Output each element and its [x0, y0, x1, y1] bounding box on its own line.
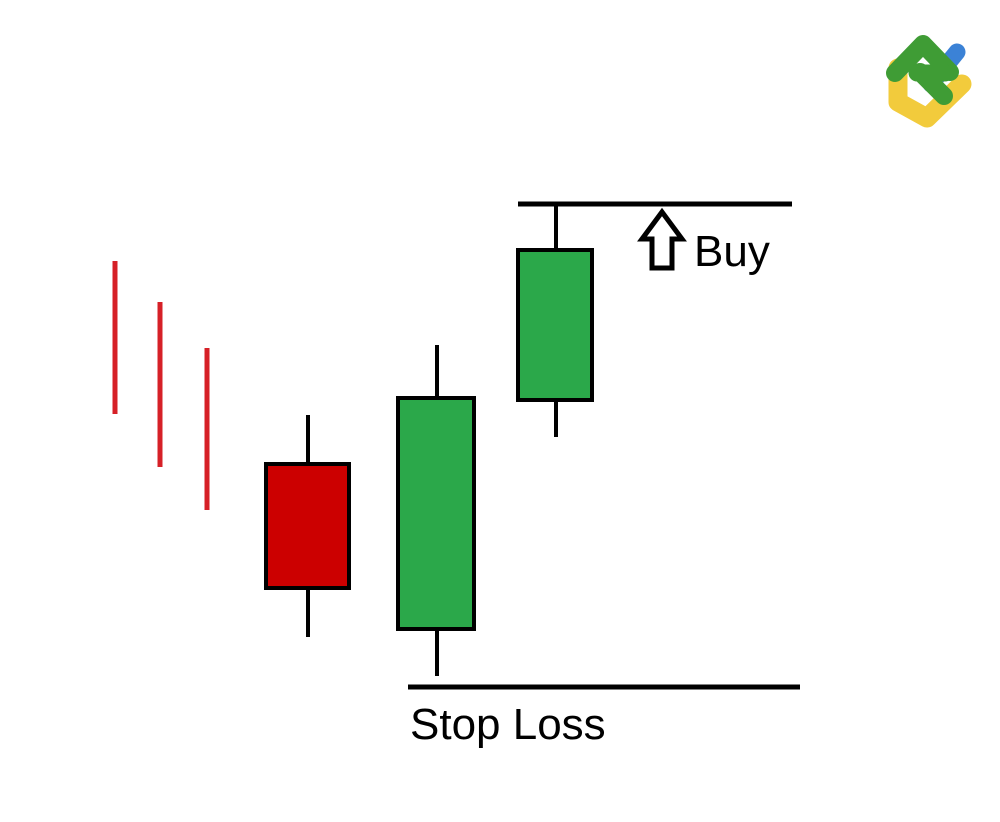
- buy-label: Buy: [694, 227, 770, 276]
- stop-loss-label: Stop Loss: [410, 700, 606, 749]
- litefinance-logo: [895, 44, 962, 118]
- candle-bullish-2: [518, 206, 592, 437]
- up-arrow-outline-icon: [642, 212, 682, 268]
- downtrend-bars-group: [115, 261, 207, 510]
- candle-bearish-1: [266, 415, 349, 637]
- chart-canvas: Buy Stop Loss: [0, 0, 1000, 822]
- candle-body: [518, 250, 592, 400]
- candle-body: [266, 464, 349, 588]
- candlestick-diagram: Buy Stop Loss: [0, 0, 1000, 822]
- candle-body: [398, 398, 474, 629]
- candle-bullish-1: [398, 345, 474, 676]
